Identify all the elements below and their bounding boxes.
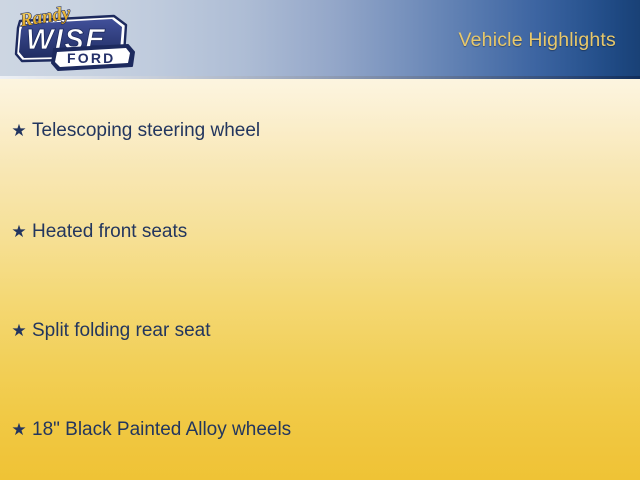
svg-text:FORD: FORD — [67, 50, 115, 66]
list-item: ★ 18" Black Painted Alloy wheels — [0, 413, 640, 447]
highlights-list: ★ Telescoping steering wheel ★ Heated fr… — [0, 79, 640, 480]
highlight-label: Split folding rear seat — [32, 319, 211, 343]
star-icon: ★ — [8, 122, 30, 139]
star-icon: ★ — [8, 223, 30, 240]
highlight-label: Telescoping steering wheel — [32, 119, 260, 143]
logo-ford-banner: FORD — [52, 45, 134, 70]
list-item: ★ Split folding rear seat — [0, 314, 640, 348]
star-icon: ★ — [8, 421, 30, 438]
highlight-label: 18" Black Painted Alloy wheels — [32, 418, 291, 442]
list-item: ★ Heated front seats — [0, 215, 640, 249]
randy-wise-ford-logo[interactable]: WISE FORD Randy — [8, 2, 136, 78]
list-item: ★ Telescoping steering wheel — [0, 114, 640, 148]
page-title: Vehicle Highlights — [458, 29, 616, 52]
vehicle-highlights-slide: Vehicle Highlights WISE — [0, 0, 640, 480]
star-icon: ★ — [8, 322, 30, 339]
highlight-label: Heated front seats — [32, 220, 187, 244]
